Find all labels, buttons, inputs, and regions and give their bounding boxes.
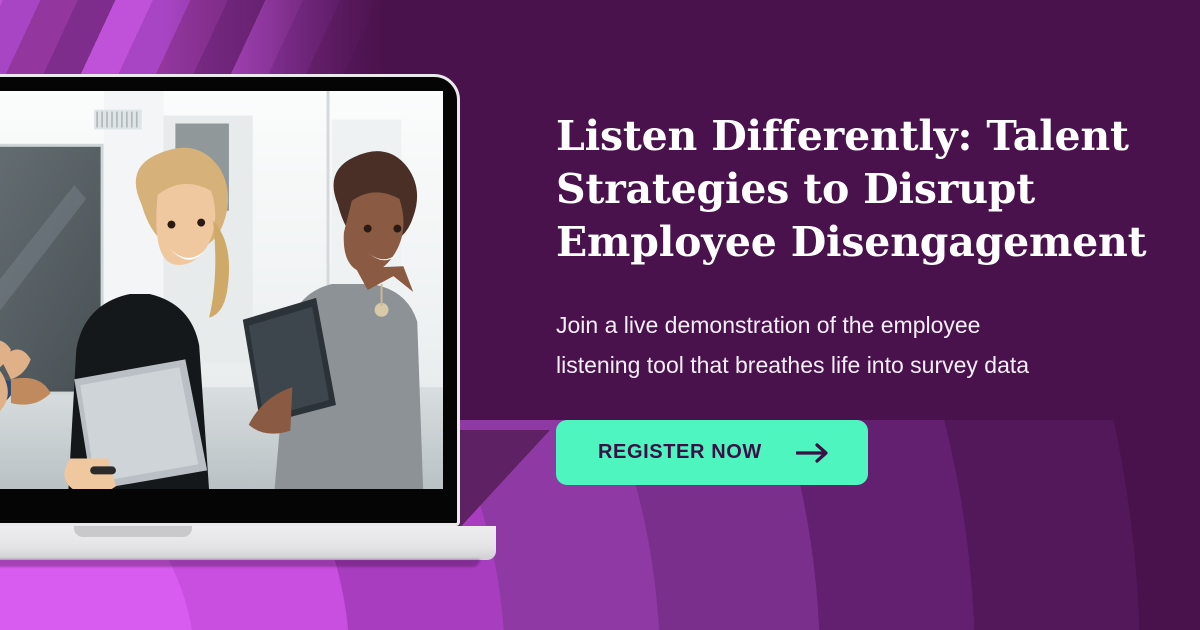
office-team-photo (0, 91, 443, 489)
headline-line-3: Employee Disengagement (556, 218, 1146, 266)
subheading-line-1: Join a live demonstration of the employe… (556, 312, 980, 338)
register-now-button[interactable]: REGISTER NOW (556, 420, 868, 485)
content-column: Listen Differently: Talent Strategies to… (556, 110, 1156, 485)
arrow-right-icon (796, 443, 830, 463)
laptop-hinge-notch (74, 526, 192, 537)
subheading: Join a live demonstration of the employe… (556, 305, 1156, 385)
headline-line-1: Listen Differently: Talent (556, 112, 1129, 160)
headline-line-2: Strategies to Disrupt (556, 165, 1035, 213)
diagonal-stripes-top-left (0, 0, 400, 80)
laptop-mockup (0, 74, 460, 560)
laptop-screen (0, 91, 443, 489)
promo-banner: Listen Differently: Talent Strategies to… (0, 0, 1200, 630)
page-title: Listen Differently: Talent Strategies to… (556, 110, 1156, 269)
laptop-base (0, 526, 496, 560)
laptop-lid (0, 74, 460, 526)
register-now-label: REGISTER NOW (598, 441, 762, 464)
subheading-line-2: listening tool that breathes life into s… (556, 352, 1029, 378)
laptop-shadow (0, 559, 480, 567)
